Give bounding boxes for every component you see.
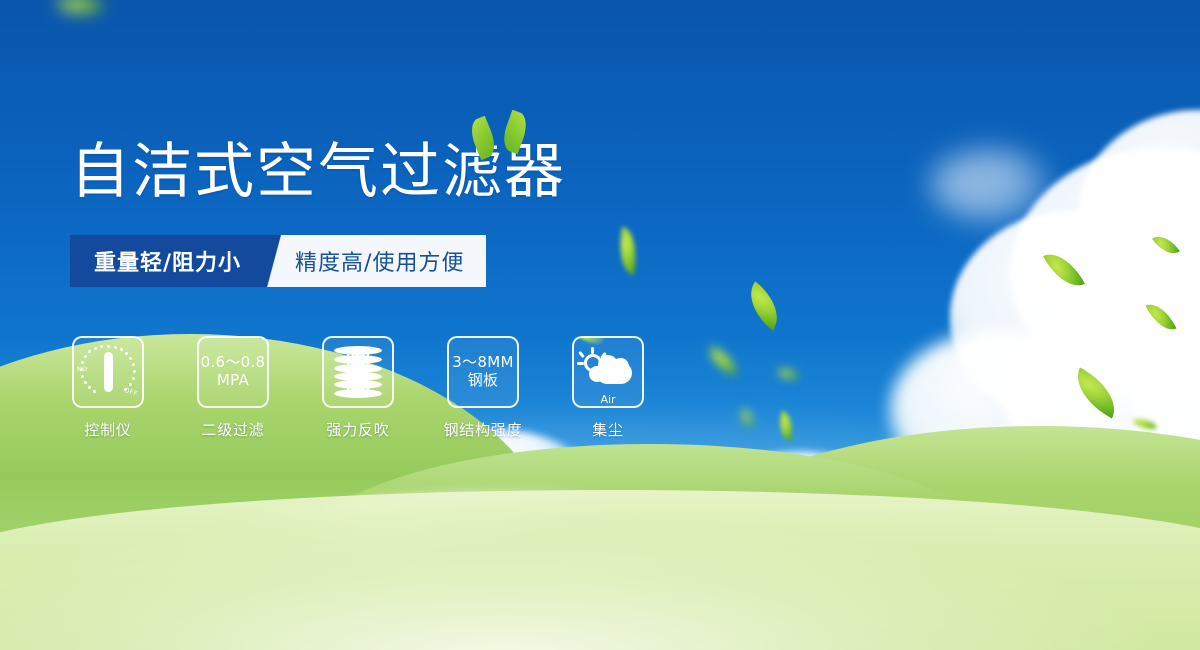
title-sprout (473, 108, 533, 158)
gauge-icon: NO OFF (77, 343, 139, 401)
pressure-text-icon: 0.6～0.8 (201, 354, 266, 372)
gauge-off-label: OFF (123, 386, 139, 398)
subtitle-bar: 重量轻/阻力小 精度高/使用方便 (70, 235, 486, 287)
feature-list: NO OFF 控制仪 0.6～0.8 MPA 二级过滤 (72, 336, 644, 440)
feature-item-dust[interactable]: Air 集尘 (572, 336, 644, 440)
feature-label: 二级过滤 (201, 419, 264, 440)
feature-icon-box: 0.6～0.8 MPA (197, 336, 269, 408)
product-banner: 自洁式空气过滤器 重量轻/阻力小 精度高/使用方便 (0, 0, 1200, 650)
air-cloud-icon: Air (580, 350, 636, 394)
feature-label: 控制仪 (84, 419, 131, 440)
filter-stack-icon (334, 346, 382, 398)
steel-plate-label: 钢板 (468, 372, 499, 390)
subtitle-left: 重量轻/阻力小 (70, 235, 263, 287)
sprout-leaf-right-icon (499, 110, 531, 154)
feature-label: 集尘 (592, 419, 624, 440)
steel-thickness-text-icon: 3～8MM (452, 354, 513, 372)
feature-item-steel[interactable]: 3～8MM 钢板 钢结构强度 (447, 336, 519, 440)
feature-label: 钢结构强度 (444, 419, 523, 440)
subtitle-right: 精度高/使用方便 (291, 235, 486, 287)
feature-item-filtration[interactable]: 0.6～0.8 MPA 二级过滤 (197, 336, 269, 440)
feature-icon-box: Air (572, 336, 644, 408)
leaf-streak-icon (572, 336, 605, 348)
pressure-unit-label: MPA (217, 372, 249, 390)
feature-label: 强力反吹 (326, 419, 389, 440)
feature-icon-box: NO OFF (72, 336, 144, 408)
grass-field (0, 460, 1200, 650)
feature-icon-box (322, 336, 394, 408)
gauge-needle (104, 352, 113, 392)
air-label: Air (580, 393, 636, 406)
feature-item-control[interactable]: NO OFF 控制仪 (72, 336, 144, 440)
gauge-no-label: NO (77, 365, 88, 373)
feature-icon-box: 3～8MM 钢板 (447, 336, 519, 408)
feature-item-blowback[interactable]: 强力反吹 (322, 336, 394, 440)
field-sheen (0, 500, 1200, 650)
subtitle-divider (263, 235, 291, 287)
